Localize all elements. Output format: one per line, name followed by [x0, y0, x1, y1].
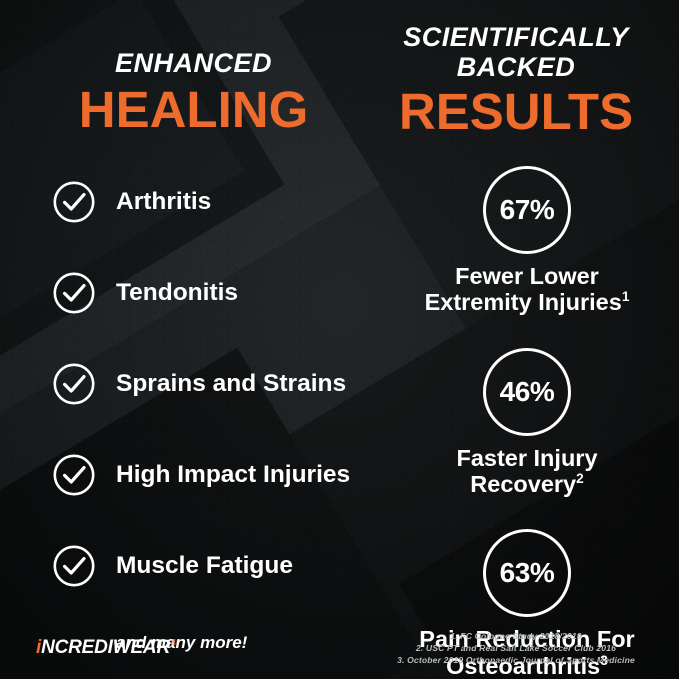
stat-footnote-ref: 1 — [622, 289, 630, 304]
footnote-2: 2. USC PT and Real Salt Lake Soccer Club… — [366, 642, 666, 654]
list-item: High Impact Injuries — [52, 451, 382, 499]
infographic-canvas: ENHANCED HEALING SCIENTIFICALLY BACKED R… — [0, 0, 679, 679]
stat-block: 46% Faster Injury Recovery2 — [382, 348, 672, 498]
list-item: Arthritis — [52, 178, 382, 226]
incrediwear-logo: i NCREDIWEAR ® — [36, 637, 177, 659]
list-item: Muscle Fatigue — [52, 542, 382, 590]
results-stats: 67% Fewer Lower Extremity Injuries1 46% … — [382, 166, 672, 679]
list-item: Tendonitis — [52, 269, 382, 317]
list-item-label: Tendonitis — [116, 279, 238, 307]
stat-value: 63% — [500, 557, 555, 589]
logo-wordmark: NCREDIWEAR — [41, 637, 170, 659]
left-headline: HEALING — [26, 84, 361, 136]
registered-trademark-icon: ® — [171, 638, 177, 647]
right-eyebrow-line1: SCIENTIFICALLY — [368, 22, 664, 52]
left-eyebrow: ENHANCED — [26, 48, 361, 78]
check-circle-icon — [52, 453, 96, 497]
stat-circle: 63% — [483, 529, 571, 617]
check-circle-icon — [52, 271, 96, 315]
condition-checklist: Arthritis Tendonitis S — [52, 178, 382, 653]
footnotes: 1. FC Cologne Study 2018/2019 2. USC PT … — [366, 630, 666, 667]
list-item-label: Muscle Fatigue — [116, 552, 293, 580]
footnote-1: 1. FC Cologne Study 2018/2019 — [366, 630, 666, 642]
stat-caption: Faster Injury Recovery2 — [382, 445, 672, 498]
stat-footnote-ref: 2 — [576, 471, 584, 486]
stat-circle: 67% — [483, 166, 571, 254]
stat-block: 67% Fewer Lower Extremity Injuries1 — [382, 166, 672, 316]
stat-caption-line1: Fewer Lower — [455, 263, 599, 289]
stat-caption-line2: Extremity Injuries — [425, 289, 622, 315]
right-headline: RESULTS — [368, 86, 664, 138]
check-circle-icon — [52, 544, 96, 588]
list-item-label: Sprains and Strains — [116, 370, 346, 398]
stat-caption-line2: Recovery — [470, 471, 576, 497]
stat-value: 46% — [500, 376, 555, 408]
list-item: Sprains and Strains — [52, 360, 382, 408]
check-circle-icon — [52, 180, 96, 224]
check-circle-icon — [52, 362, 96, 406]
list-item-label: High Impact Injuries — [116, 461, 350, 489]
left-column-header: ENHANCED HEALING — [26, 48, 361, 136]
list-item-label: Arthritis — [116, 188, 211, 216]
right-eyebrow-line2: BACKED — [368, 52, 664, 82]
footnote-3: 3. October 2019 Orthopaedic Journal of S… — [366, 654, 666, 666]
stat-value: 67% — [500, 194, 555, 226]
stat-caption-line1: Faster Injury — [456, 445, 597, 471]
stat-caption: Fewer Lower Extremity Injuries1 — [382, 263, 672, 316]
right-column-header: SCIENTIFICALLY BACKED RESULTS — [368, 22, 664, 138]
stat-circle: 46% — [483, 348, 571, 436]
